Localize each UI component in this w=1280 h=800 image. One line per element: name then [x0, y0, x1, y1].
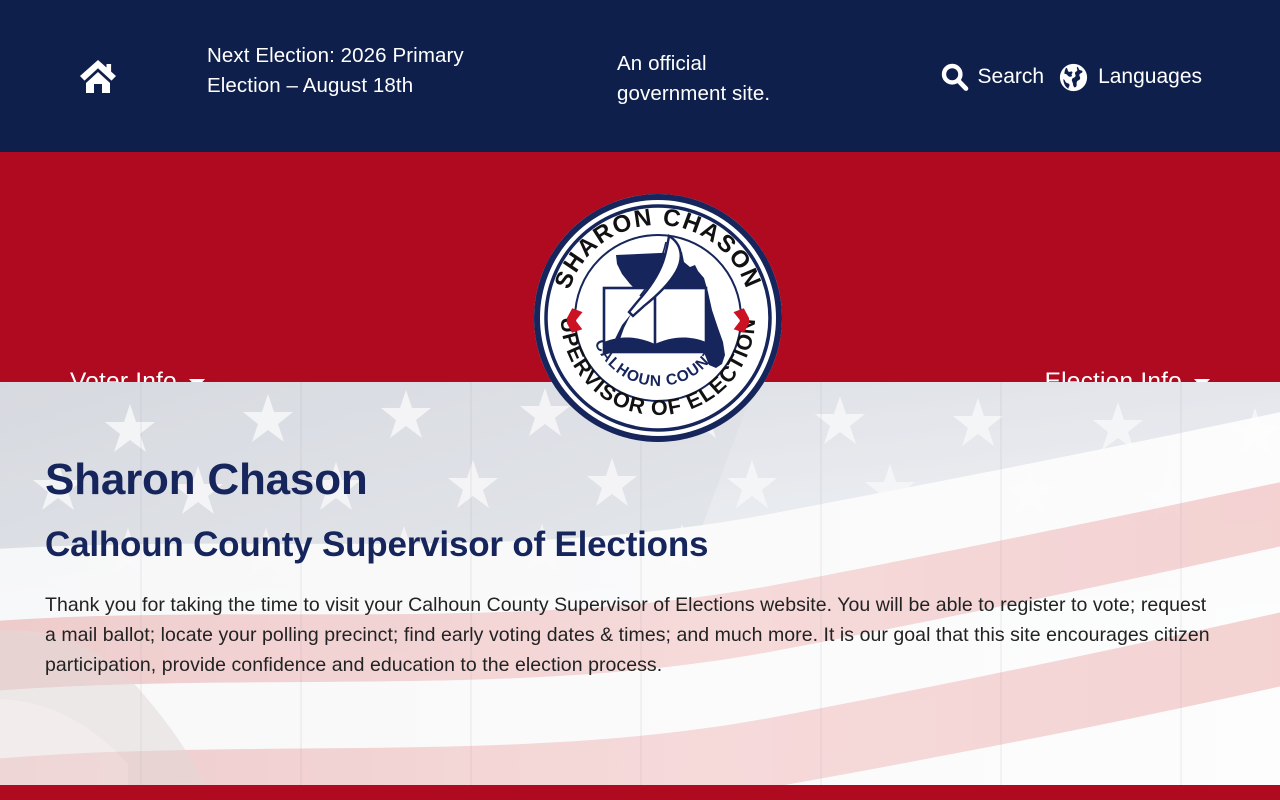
- hero-content: Sharon Chason Calhoun County Supervisor …: [45, 457, 1225, 680]
- page-subtitle: Calhoun County Supervisor of Elections: [45, 526, 1225, 564]
- languages-button[interactable]: Languages: [1058, 58, 1202, 96]
- search-icon: [940, 62, 969, 92]
- search-button[interactable]: Search: [940, 58, 1045, 96]
- search-label: Search: [978, 58, 1045, 96]
- site-seal-logo[interactable]: SHARON CHASON SUPERVISOR OF ELECTIONS: [532, 192, 784, 444]
- languages-label: Languages: [1098, 58, 1202, 96]
- welcome-paragraph: Thank you for taking the time to visit y…: [45, 590, 1210, 680]
- next-election-notice: Next Election: 2026 Primary Election – A…: [207, 41, 487, 101]
- footer-accent-bar: [0, 785, 1280, 800]
- home-icon[interactable]: [78, 58, 118, 96]
- page-title: Sharon Chason: [45, 457, 1225, 504]
- top-utility-bar: Next Election: 2026 Primary Election – A…: [0, 0, 1280, 152]
- globe-icon: [1058, 62, 1089, 93]
- official-site-notice: An official government site.: [617, 49, 817, 109]
- top-actions: Search Languages: [940, 58, 1202, 96]
